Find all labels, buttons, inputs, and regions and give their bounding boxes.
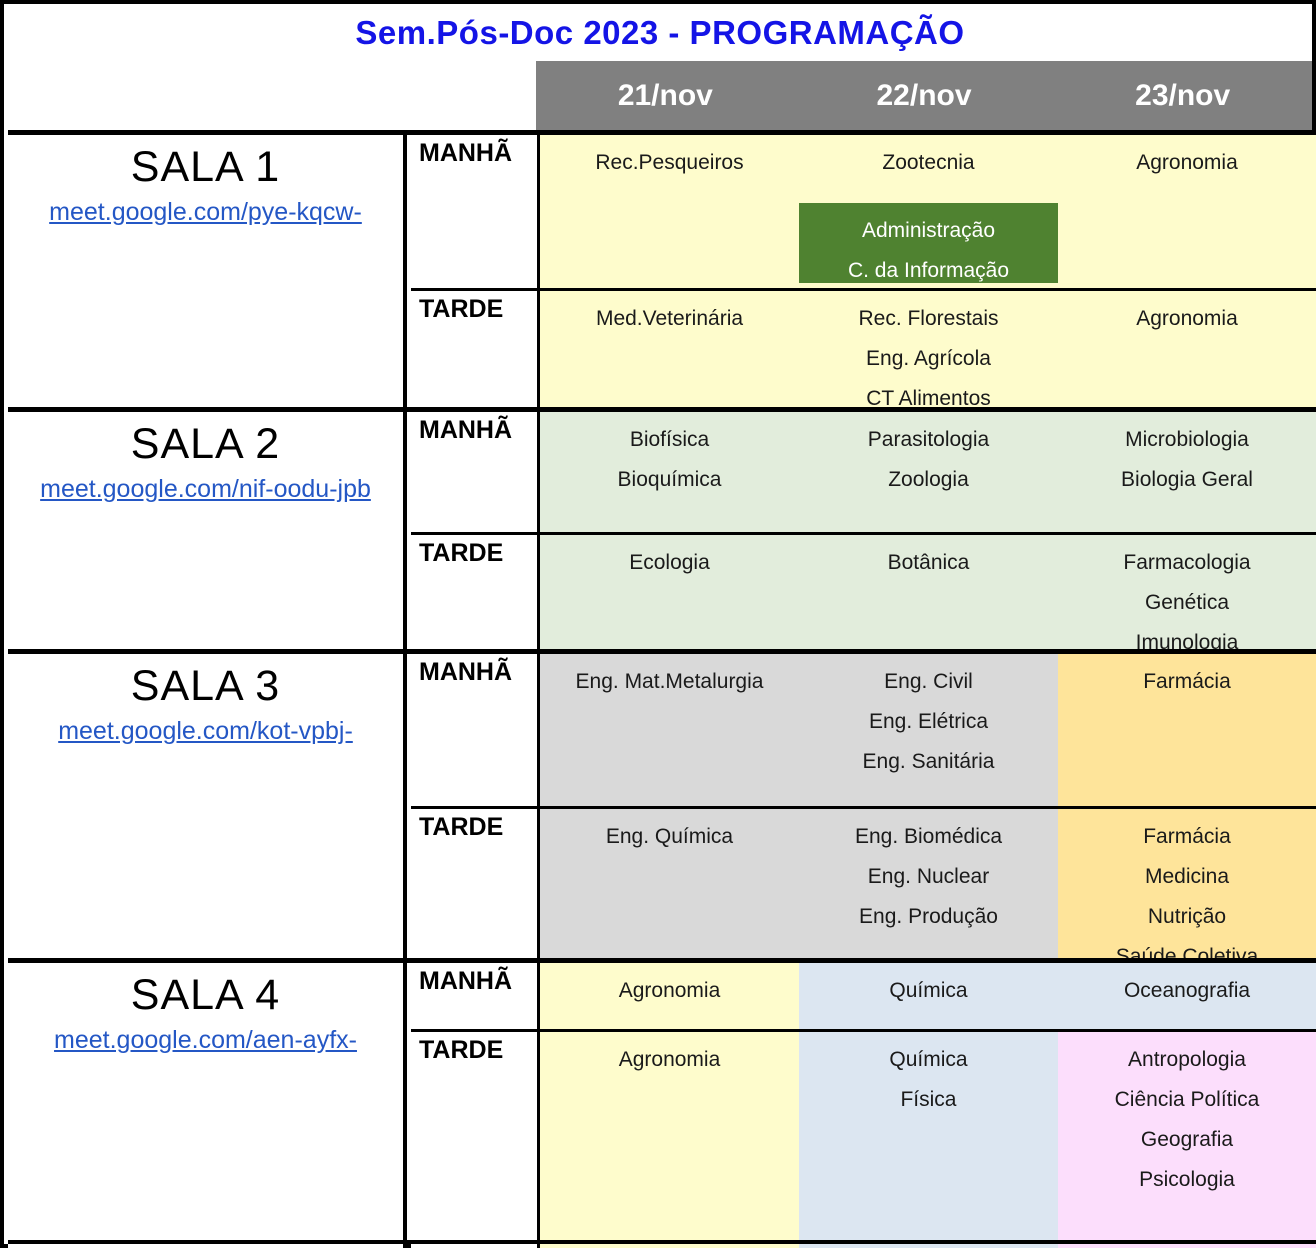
subject-label: Farmacologia xyxy=(1058,543,1316,583)
subject-list: AntropologiaCiência PolíticaGeografiaPsi… xyxy=(1058,1032,1316,1200)
subject-label: Psicologia xyxy=(1058,1160,1316,1200)
subject-label: Eng. Civil xyxy=(799,662,1058,702)
subject-list: Eng. Química xyxy=(540,809,799,857)
room-block-2: SALA 2meet.google.com/nif-oodu-jpbMANHÃT… xyxy=(8,412,1316,649)
subject-label: Eng. Nuclear xyxy=(799,857,1058,897)
schedule-cell: Botânica xyxy=(799,535,1058,649)
subject-label: Medicina xyxy=(1058,857,1316,897)
room-label-column: SALA 1meet.google.com/pye-kqcw- xyxy=(8,135,407,407)
room-meet-link[interactable]: meet.google.com/pye-kqcw- xyxy=(49,198,362,227)
subject-list: BiofísicaBioquímica xyxy=(540,412,799,500)
subject-list: FarmáciaMedicinaNutriçãoSaúde Coletiva xyxy=(1058,809,1316,977)
schedule-cell: Eng. CivilEng. ElétricaEng. Sanitária xyxy=(799,654,1058,806)
room-label-column: SALA 4meet.google.com/aen-ayfx- xyxy=(8,963,407,1248)
subject-label: Eng. Agrícola xyxy=(799,339,1058,379)
schedule-cell: Agronomia xyxy=(1058,291,1316,407)
room-inner: SALA 2meet.google.com/nif-oodu-jpbMANHÃT… xyxy=(8,412,1316,649)
subject-label: Farmácia xyxy=(1058,662,1316,702)
subject-list: Oceanografia xyxy=(1058,963,1316,1011)
subject-list: Agronomia xyxy=(1058,135,1316,183)
period-label-tarde: TARDE xyxy=(411,1032,537,1248)
date-header-row: 21/nov 22/nov 23/nov xyxy=(536,61,1312,130)
subject-label: Bioquímica xyxy=(540,460,799,500)
period-label-manha: MANHÃ xyxy=(411,654,537,806)
subject-label: Química xyxy=(799,971,1058,1011)
schedule-cell: Rec.Pesqueiros xyxy=(540,135,799,288)
period-label-manha: MANHÃ xyxy=(411,135,537,288)
subject-list: Eng. Mat.Metalurgia xyxy=(540,654,799,702)
room-name: SALA 2 xyxy=(8,422,403,467)
schedule-cell: Eng. Mat.Metalurgia xyxy=(540,654,799,806)
subject-label: Genética xyxy=(1058,583,1316,623)
schedule-cell: ParasitologiaZoologia xyxy=(799,412,1058,532)
days-area: AgronomiaQuímicaOceanografiaAgronomiaQuí… xyxy=(540,963,1316,1248)
subject-list: Med.Veterinária xyxy=(540,291,799,339)
room-label-column: SALA 3meet.google.com/kot-vpbj- xyxy=(8,654,407,958)
schedule-cell: Eng. Química xyxy=(540,809,799,958)
subject-label: Parasitologia xyxy=(799,420,1058,460)
subject-list: ParasitologiaZoologia xyxy=(799,412,1058,500)
subject-label: Ecologia xyxy=(540,543,799,583)
room-meet-link[interactable]: meet.google.com/nif-oodu-jpb xyxy=(40,475,371,504)
room-label-column: SALA 2meet.google.com/nif-oodu-jpb xyxy=(8,412,407,649)
period-column: MANHÃTARDE xyxy=(411,963,540,1248)
subject-list: Eng. BiomédicaEng. NuclearEng. Produção xyxy=(799,809,1058,937)
subject-label: Ciência Política xyxy=(1058,1080,1316,1120)
subject-list: Farmácia xyxy=(1058,654,1316,702)
schedule-cell: AntropologiaCiência PolíticaGeografiaPsi… xyxy=(1058,1032,1316,1248)
period-column: MANHÃTARDE xyxy=(411,135,540,407)
subject-label: Eng. Mat.Metalurgia xyxy=(540,662,799,702)
subject-label: Administração xyxy=(799,211,1058,251)
period-label-tarde: TARDE xyxy=(411,535,537,649)
subject-label: Eng. Sanitária xyxy=(799,742,1058,782)
room-name: SALA 1 xyxy=(8,145,403,190)
subject-list: Rec.Pesqueiros xyxy=(540,135,799,183)
subject-label: Geografia xyxy=(1058,1120,1316,1160)
subject-label: Zootecnia xyxy=(799,143,1058,183)
subject-list: Rec. FlorestaisEng. AgrícolaCT Alimentos xyxy=(799,291,1058,419)
subject-label: Biofísica xyxy=(540,420,799,460)
schedule-cell: FarmáciaMedicinaNutriçãoSaúde Coletiva xyxy=(1058,809,1316,958)
subject-label: C. da Informação xyxy=(799,251,1058,291)
room-meet-link[interactable]: meet.google.com/kot-vpbj- xyxy=(58,717,353,746)
subject-label: Química xyxy=(799,1040,1058,1080)
subject-label: Eng. Química xyxy=(540,817,799,857)
days-area: Eng. Mat.MetalurgiaEng. CivilEng. Elétri… xyxy=(540,654,1316,958)
highlighted-subject-block: AdministraçãoC. da Informação xyxy=(799,203,1058,283)
subject-label: Med.Veterinária xyxy=(540,299,799,339)
subject-label: Zoologia xyxy=(799,460,1058,500)
room-meet-link[interactable]: meet.google.com/aen-ayfx- xyxy=(54,1026,357,1055)
subject-label: Farmácia xyxy=(1058,817,1316,857)
schedule-cell: Rec. FlorestaisEng. AgrícolaCT Alimentos xyxy=(799,291,1058,407)
period-label-manha: MANHÃ xyxy=(411,963,537,1029)
schedule-cell: Farmácia xyxy=(1058,654,1316,806)
subject-list: Botânica xyxy=(799,535,1058,583)
page-title: Sem.Pós-Doc 2023 - PROGRAMAÇÃO xyxy=(8,4,1312,61)
subject-label: Microbiologia xyxy=(1058,420,1316,460)
schedule-cell: MicrobiologiaBiologia Geral xyxy=(1058,412,1316,532)
room-block-4: SALA 4meet.google.com/aen-ayfx-MANHÃTARD… xyxy=(8,963,1316,1248)
subject-label: Física xyxy=(799,1080,1058,1120)
schedule-cell: Oceanografia xyxy=(1058,963,1316,1029)
room-inner: SALA 1meet.google.com/pye-kqcw-MANHÃTARD… xyxy=(8,135,1316,407)
subject-label: Rec.Pesqueiros xyxy=(540,143,799,183)
period-label-manha: MANHÃ xyxy=(411,412,537,532)
subject-label: Eng. Produção xyxy=(799,897,1058,937)
subject-label: Agronomia xyxy=(1058,299,1316,339)
subject-label: Agronomia xyxy=(540,1040,799,1080)
subject-list: Ecologia xyxy=(540,535,799,583)
subject-label: Eng. Elétrica xyxy=(799,702,1058,742)
schedule-cell: Agronomia xyxy=(540,963,799,1029)
room-name: SALA 4 xyxy=(8,973,403,1018)
period-label-tarde: TARDE xyxy=(411,809,537,958)
schedule-cell: Agronomia xyxy=(1058,135,1316,288)
schedule-cell: FarmacologiaGenéticaImunologia xyxy=(1058,535,1316,649)
subject-label: Agronomia xyxy=(540,971,799,1011)
schedule-cell: QuímicaFísica xyxy=(799,1032,1058,1248)
schedule-cell: ZootecniaAdministraçãoC. da Informação xyxy=(799,135,1058,288)
subject-label: Antropologia xyxy=(1058,1040,1316,1080)
date-header-22nov: 22/nov xyxy=(795,61,1054,130)
subject-list: QuímicaFísica xyxy=(799,1032,1058,1120)
period-column: MANHÃTARDE xyxy=(411,412,540,649)
subject-list: FarmacologiaGenéticaImunologia xyxy=(1058,535,1316,663)
schedule-cell: Química xyxy=(799,963,1058,1029)
schedule-page: Sem.Pós-Doc 2023 - PROGRAMAÇÃO 21/nov 22… xyxy=(0,0,1316,1248)
subject-list: MicrobiologiaBiologia Geral xyxy=(1058,412,1316,500)
subject-list: Química xyxy=(799,963,1058,1011)
subject-label: Biologia Geral xyxy=(1058,460,1316,500)
date-header-23nov: 23/nov xyxy=(1053,61,1312,130)
subject-label: Rec. Florestais xyxy=(799,299,1058,339)
subject-list: Zootecnia xyxy=(799,135,1058,183)
room-inner: SALA 4meet.google.com/aen-ayfx-MANHÃTARD… xyxy=(8,963,1316,1248)
room-name: SALA 3 xyxy=(8,664,403,709)
schedule-cell: BiofísicaBioquímica xyxy=(540,412,799,532)
subject-label: Nutrição xyxy=(1058,897,1316,937)
subject-label: Agronomia xyxy=(1058,143,1316,183)
date-header-21nov: 21/nov xyxy=(536,61,795,130)
subject-label: Oceanografia xyxy=(1058,971,1316,1011)
room-block-1: SALA 1meet.google.com/pye-kqcw-MANHÃTARD… xyxy=(8,135,1316,407)
schedule-cell: Agronomia xyxy=(540,1032,799,1248)
days-area: Rec.PesqueirosZootecniaAdministraçãoC. d… xyxy=(540,135,1316,407)
bottom-border xyxy=(8,1240,1316,1244)
subject-list: Agronomia xyxy=(540,1032,799,1080)
room-inner: SALA 3meet.google.com/kot-vpbj-MANHÃTARD… xyxy=(8,654,1316,958)
subject-list: Eng. CivilEng. ElétricaEng. Sanitária xyxy=(799,654,1058,782)
days-area: BiofísicaBioquímicaParasitologiaZoologia… xyxy=(540,412,1316,649)
subject-label: Eng. Biomédica xyxy=(799,817,1058,857)
room-block-3: SALA 3meet.google.com/kot-vpbj-MANHÃTARD… xyxy=(8,654,1316,958)
page-title-text: Sem.Pós-Doc 2023 - PROGRAMAÇÃO xyxy=(355,14,964,52)
schedule-cell: Ecologia xyxy=(540,535,799,649)
schedule-cell: Eng. BiomédicaEng. NuclearEng. Produção xyxy=(799,809,1058,958)
schedule-cell: Med.Veterinária xyxy=(540,291,799,407)
subject-list: Agronomia xyxy=(540,963,799,1011)
subject-list: Agronomia xyxy=(1058,291,1316,339)
period-label-tarde: TARDE xyxy=(411,291,537,407)
subject-label: Botânica xyxy=(799,543,1058,583)
